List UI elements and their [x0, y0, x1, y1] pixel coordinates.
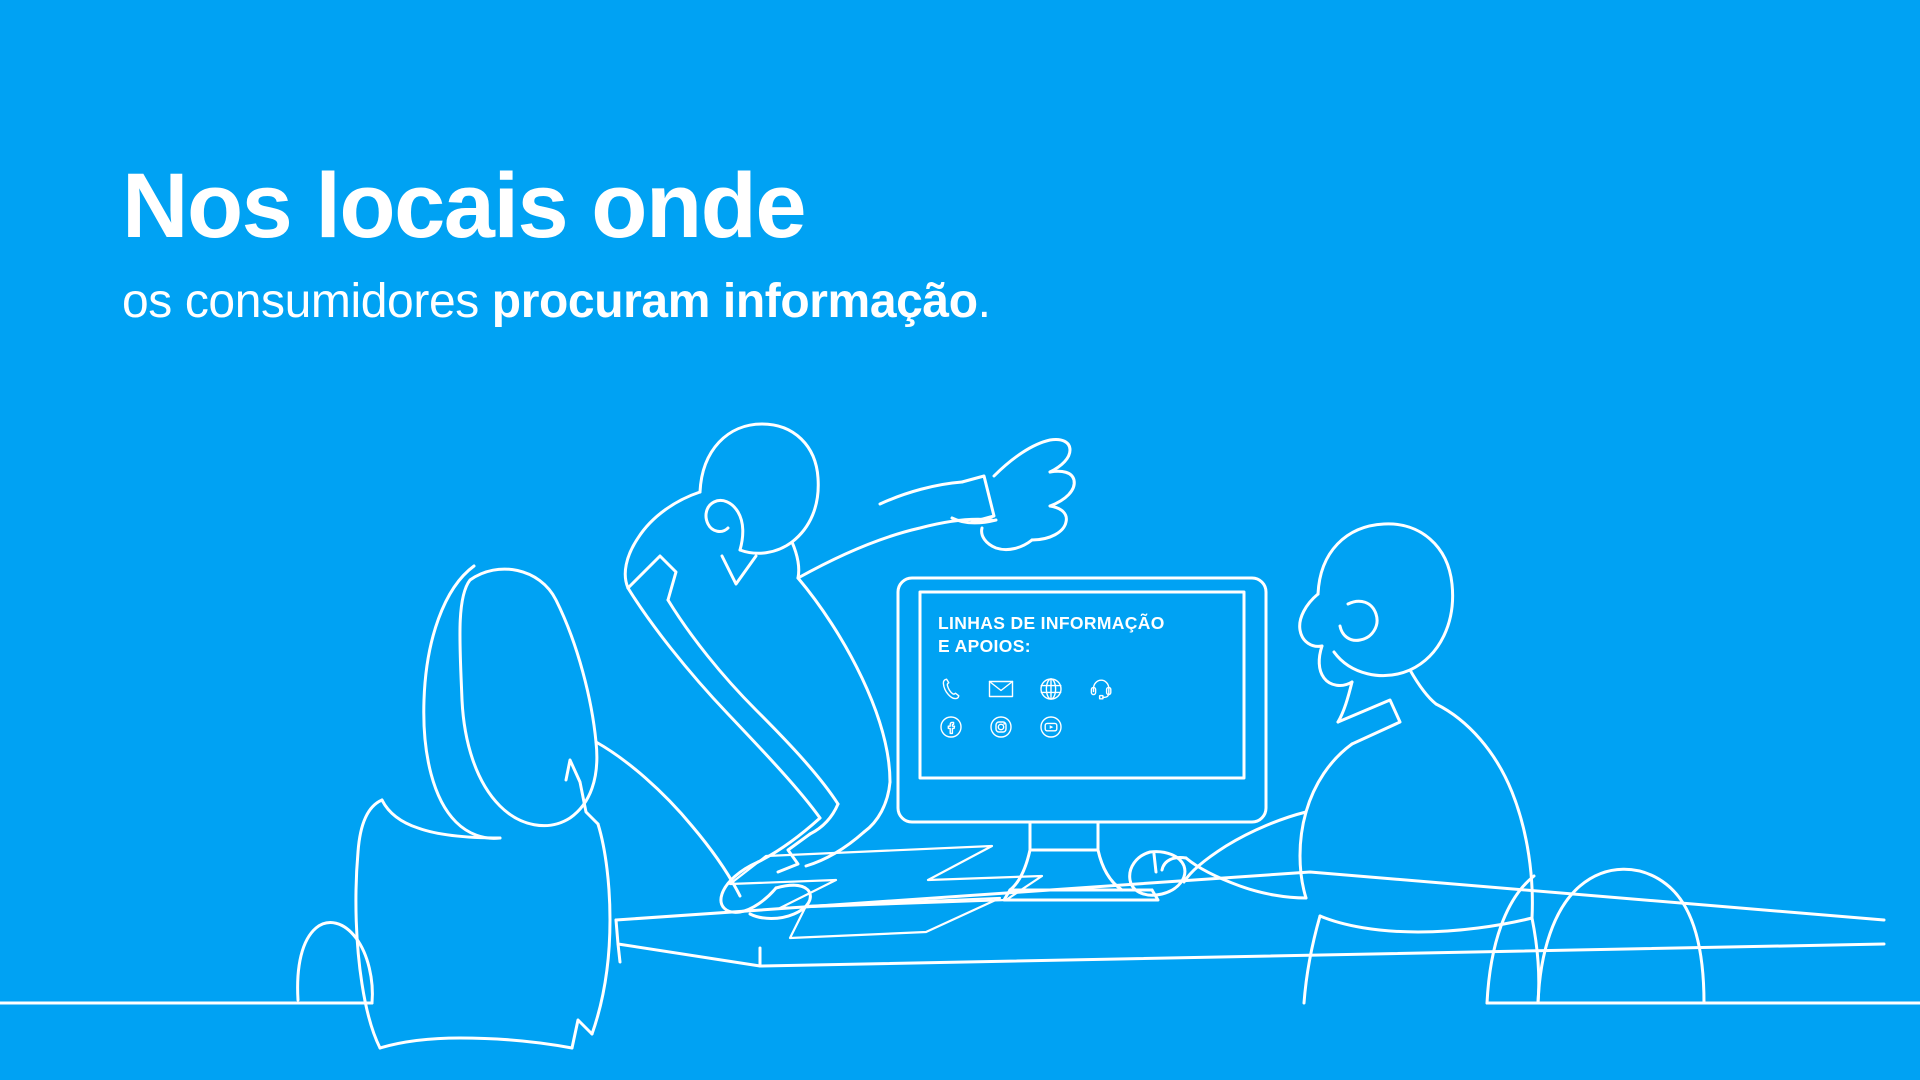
globe-icon[interactable]	[1038, 676, 1064, 702]
envelope-icon[interactable]	[988, 676, 1014, 702]
social-icons-row	[938, 714, 1238, 740]
headset-icon[interactable]	[1088, 676, 1114, 702]
slide-canvas: Nos locais onde os consumidores procuram…	[0, 0, 1920, 1080]
seated-person-back-view	[298, 566, 740, 1048]
contact-icons-row	[938, 676, 1238, 702]
phone-icon[interactable]	[938, 676, 964, 702]
line-art-illustration	[0, 0, 1920, 1080]
desk	[616, 846, 1884, 966]
screen-heading: LINHAS DE INFORMAÇÃO E APOIOS:	[938, 612, 1238, 658]
youtube-icon[interactable]	[1038, 714, 1064, 740]
monitor-screen-content: LINHAS DE INFORMAÇÃO E APOIOS:	[938, 612, 1238, 740]
instagram-icon[interactable]	[988, 714, 1014, 740]
facebook-icon[interactable]	[938, 714, 964, 740]
